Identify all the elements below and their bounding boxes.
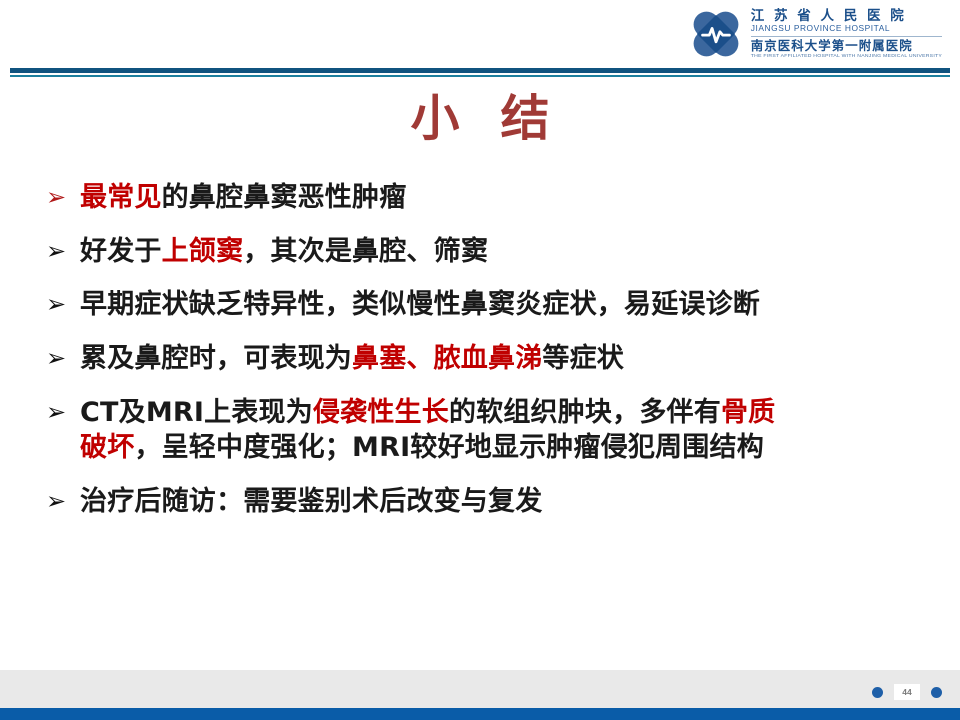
logo-cn-secondary: 南京医科大学第一附属医院	[751, 40, 942, 52]
slide-header: 江 苏 省 人 民 医 院 JIANGSU PROVINCE HOSPITAL …	[0, 0, 960, 72]
footer-band	[0, 670, 960, 708]
normal-text: ，呈轻中度强化；MRI较好地显示肿瘤侵犯周围结构	[134, 432, 764, 463]
bullet-arrow-icon: ➢	[46, 484, 80, 519]
bullet-line: 早期症状缺乏特异性，类似慢性鼻窦炎症状，易延误诊断	[80, 287, 926, 323]
emphasis-text: 上颌窦	[162, 236, 244, 267]
bullet-arrow-icon: ➢	[46, 287, 80, 322]
bullet-item: ➢治疗后随访：需要鉴别术后改变与复发	[46, 484, 926, 520]
normal-text: 治疗后随访：需要鉴别术后改变与复发	[80, 486, 542, 517]
slide: 江 苏 省 人 民 医 院 JIANGSU PROVINCE HOSPITAL …	[0, 0, 960, 720]
bullet-item: ➢早期症状缺乏特异性，类似慢性鼻窦炎症状，易延误诊断	[46, 287, 926, 323]
bullet-arrow-icon: ➢	[46, 234, 80, 269]
slide-pager: 44	[872, 683, 942, 701]
bullet-list: ➢最常见的鼻腔鼻窦恶性肿瘤➢好发于上颌窦，其次是鼻腔、筛窦➢早期症状缺乏特异性，…	[46, 180, 926, 537]
bullet-item: ➢CT及MRI上表现为侵袭性生长的软组织肿块，多伴有骨质破坏，呈轻中度强化；MR…	[46, 395, 926, 466]
normal-text: 的软组织肿块，多伴有	[449, 397, 721, 428]
hospital-four-circle-ecg-logo-icon	[688, 6, 744, 62]
page-number: 44	[894, 684, 920, 700]
emphasis-text: 破坏	[80, 432, 134, 463]
nav-dot-right-icon[interactable]	[931, 687, 942, 698]
bullet-line: CT及MRI上表现为侵袭性生长的软组织肿块，多伴有骨质	[80, 395, 926, 431]
normal-text: 累及鼻腔时，可表现为	[80, 343, 352, 374]
nav-dot-left-icon[interactable]	[872, 687, 883, 698]
footer-bar	[0, 708, 960, 720]
bullet-item: ➢累及鼻腔时，可表现为鼻塞、脓血鼻涕等症状	[46, 341, 926, 377]
normal-text: CT及MRI上表现为	[80, 397, 313, 428]
header-rule-thick	[10, 68, 950, 73]
logo-en-primary: JIANGSU PROVINCE HOSPITAL	[751, 24, 942, 32]
bullet-line: 最常见的鼻腔鼻窦恶性肿瘤	[80, 180, 926, 216]
normal-text: 好发于	[80, 236, 162, 267]
hospital-logo: 江 苏 省 人 民 医 院 JIANGSU PROVINCE HOSPITAL …	[688, 6, 942, 62]
bullet-line: 治疗后随访：需要鉴别术后改变与复发	[80, 484, 926, 520]
emphasis-text: 鼻塞、脓血鼻涕	[352, 343, 542, 374]
bullet-line: 好发于上颌窦，其次是鼻腔、筛窦	[80, 234, 926, 270]
emphasis-text: 侵袭性生长	[313, 397, 449, 428]
bullet-item: ➢最常见的鼻腔鼻窦恶性肿瘤	[46, 180, 926, 216]
bullet-text: 治疗后随访：需要鉴别术后改变与复发	[80, 484, 926, 520]
emphasis-text: 骨质	[721, 397, 775, 428]
bullet-arrow-icon: ➢	[46, 180, 80, 215]
normal-text: 的鼻腔鼻窦恶性肿瘤	[162, 182, 407, 213]
bullet-text: 最常见的鼻腔鼻窦恶性肿瘤	[80, 180, 926, 216]
normal-text: ，其次是鼻腔、筛窦	[243, 236, 488, 267]
logo-cn-primary: 江 苏 省 人 民 医 院	[751, 9, 942, 23]
bullet-line: 破坏，呈轻中度强化；MRI较好地显示肿瘤侵犯周围结构	[80, 430, 926, 466]
logo-en-secondary: THE FIRST AFFILIATED HOSPITAL WITH NANJI…	[751, 54, 942, 59]
slide-title: 小 结	[0, 92, 960, 146]
hospital-logo-text: 江 苏 省 人 民 医 院 JIANGSU PROVINCE HOSPITAL …	[751, 9, 942, 59]
bullet-arrow-icon: ➢	[46, 395, 80, 430]
bullet-line: 累及鼻腔时，可表现为鼻塞、脓血鼻涕等症状	[80, 341, 926, 377]
logo-divider	[751, 36, 942, 37]
bullet-arrow-icon: ➢	[46, 341, 80, 376]
bullet-text: CT及MRI上表现为侵袭性生长的软组织肿块，多伴有骨质破坏，呈轻中度强化；MRI…	[80, 395, 926, 466]
bullet-text: 早期症状缺乏特异性，类似慢性鼻窦炎症状，易延误诊断	[80, 287, 926, 323]
header-rule-thin	[10, 75, 950, 77]
bullet-item: ➢好发于上颌窦，其次是鼻腔、筛窦	[46, 234, 926, 270]
normal-text: 等症状	[542, 343, 624, 374]
emphasis-text: 最常见	[80, 182, 162, 213]
normal-text: 早期症状缺乏特异性，类似慢性鼻窦炎症状，易延误诊断	[80, 289, 760, 320]
bullet-text: 好发于上颌窦，其次是鼻腔、筛窦	[80, 234, 926, 270]
bullet-text: 累及鼻腔时，可表现为鼻塞、脓血鼻涕等症状	[80, 341, 926, 377]
